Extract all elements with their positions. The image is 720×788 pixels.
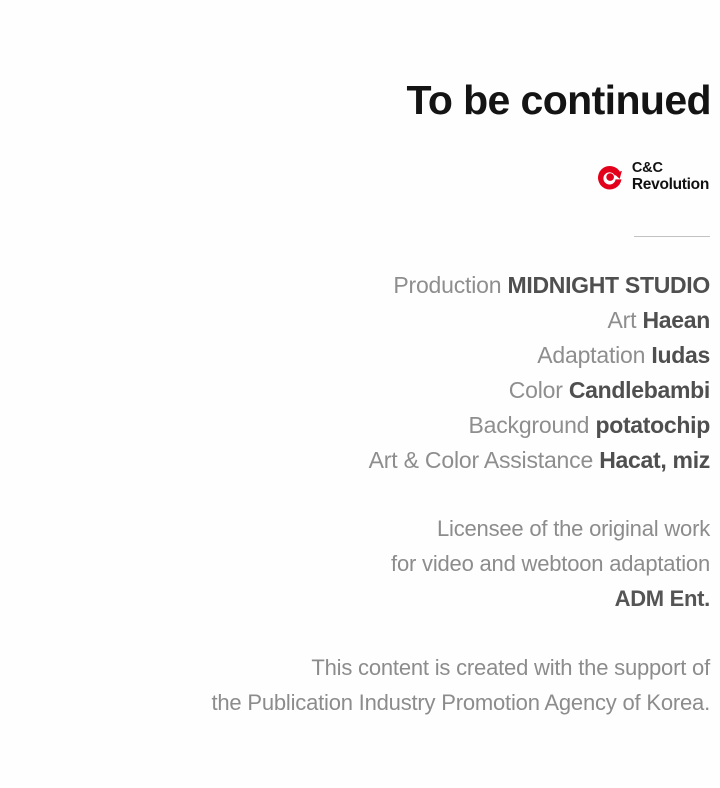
licensee-line-1: Licensee of the original work	[10, 511, 710, 546]
credits-page: To be continued C&C Revolution Productio…	[0, 0, 720, 788]
credit-name: Hacat, miz	[599, 447, 710, 473]
credit-role: Color	[509, 377, 569, 403]
licensee-block: Licensee of the original work for video …	[10, 511, 710, 616]
credit-name: Haean	[642, 307, 710, 333]
credit-role: Production	[393, 272, 507, 298]
logo-line-1: C&C	[632, 161, 709, 176]
credit-name: MIDNIGHT STUDIO	[508, 272, 711, 298]
credit-role: Art & Color Assistance	[369, 447, 600, 473]
credit-name: potatochip	[595, 412, 710, 438]
credit-row: Production MIDNIGHT STUDIO	[10, 268, 710, 303]
credit-row: Color Candlebambi	[10, 373, 710, 408]
credit-role: Background	[469, 412, 596, 438]
credit-name: Candlebambi	[569, 377, 710, 403]
support-notice: This content is created with the support…	[0, 650, 710, 720]
credits-list: Production MIDNIGHT STUDIO Art Haean Ada…	[10, 268, 710, 478]
page-title: To be continued	[406, 76, 711, 124]
section-divider	[634, 236, 710, 237]
credit-row: Adaptation Iudas	[10, 338, 710, 373]
licensee-line-2: for video and webtoon adaptation	[10, 546, 710, 581]
logo-line-2: Revolution	[632, 176, 709, 193]
credit-row: Art & Color Assistance Hacat, miz	[10, 443, 710, 478]
licensee-company: ADM Ent.	[10, 581, 710, 616]
credit-row: Background potatochip	[10, 408, 710, 443]
credit-row: Art Haean	[10, 303, 710, 338]
credit-role: Art	[607, 307, 642, 333]
publisher-logo: C&C Revolution	[597, 161, 709, 193]
support-line-2: the Publication Industry Promotion Agenc…	[0, 685, 710, 720]
credit-name: Iudas	[651, 342, 710, 368]
logo-wordmark: C&C Revolution	[632, 161, 709, 193]
credit-role: Adaptation	[537, 342, 651, 368]
support-line-1: This content is created with the support…	[0, 650, 710, 685]
cnc-revolution-logo-mark-icon	[597, 163, 626, 192]
